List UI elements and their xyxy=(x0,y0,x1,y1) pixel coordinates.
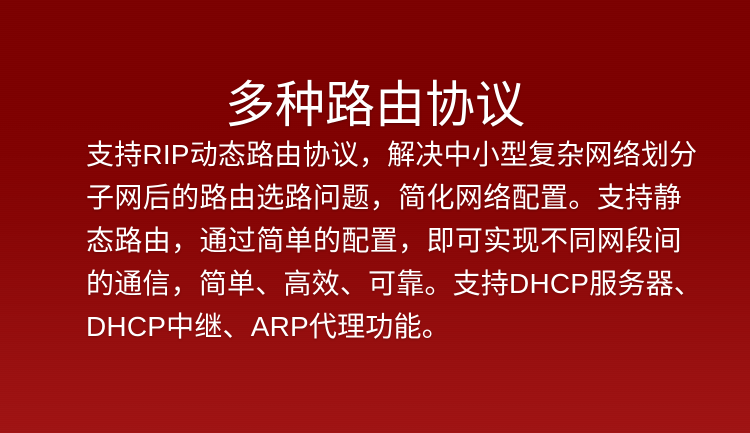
glyph: 单 xyxy=(227,262,255,305)
glyph: 路 xyxy=(114,219,142,262)
glyph: 小 xyxy=(472,133,500,176)
glyph: 分 xyxy=(669,133,697,176)
glyph: 同 xyxy=(568,219,596,262)
glyph: 、 xyxy=(674,262,702,305)
glyph: 配 xyxy=(341,219,369,262)
glyph: 、 xyxy=(340,262,368,305)
glyph: 服 xyxy=(589,262,617,305)
glyph: 。 xyxy=(568,176,596,219)
glyph: 路 xyxy=(200,176,228,219)
glyph: 信 xyxy=(142,262,170,305)
glyph: 网 xyxy=(455,176,483,219)
glyph: 的 xyxy=(313,219,341,262)
page-title: 多种路由协议 xyxy=(0,75,750,135)
glyph: 划 xyxy=(641,133,669,176)
glyph: 支 xyxy=(453,262,481,305)
glyph: 选 xyxy=(256,176,284,219)
glyph: 路 xyxy=(285,176,313,219)
glyph: ， xyxy=(398,219,426,262)
glyph: 过 xyxy=(228,219,256,262)
glyph: 可 xyxy=(455,219,483,262)
glyph: ， xyxy=(370,176,398,219)
glyph: 务 xyxy=(617,262,645,305)
glyph: 高 xyxy=(283,262,311,305)
glyph: 简 xyxy=(398,176,426,219)
glyph: 杂 xyxy=(556,133,584,176)
glyph: 由 xyxy=(274,133,302,176)
glyph: 协 xyxy=(303,133,331,176)
glyph: 络 xyxy=(613,133,641,176)
glyph: 不 xyxy=(540,219,568,262)
glyph: 可 xyxy=(368,262,396,305)
glyph: 持 xyxy=(481,262,509,305)
glyph: 段 xyxy=(625,219,653,262)
glyph: RIP xyxy=(142,133,189,176)
glyph: ， xyxy=(359,133,387,176)
glyph: 态 xyxy=(86,219,114,262)
glyph: 网 xyxy=(585,133,613,176)
glyph: 络 xyxy=(483,176,511,219)
glyph: 间 xyxy=(654,219,682,262)
glyph: 的 xyxy=(86,262,114,305)
glyph: 化 xyxy=(427,176,455,219)
glyph: 效 xyxy=(312,262,340,305)
glyph: 中 xyxy=(444,133,472,176)
glyph: 路 xyxy=(246,133,274,176)
glyph: 题 xyxy=(341,176,369,219)
glyph: ， xyxy=(171,219,199,262)
description-paragraph: 支持RIP动态路由协议，解决中小型复杂网络划分 子网后的路由选路问题，简化网络配… xyxy=(86,133,682,348)
glyph: 解 xyxy=(387,133,415,176)
description-line-5: DHCP中继、ARP代理功能。 xyxy=(86,305,682,348)
glyph: 子 xyxy=(86,176,114,219)
feature-banner: 多种路由协议 支持RIP动态路由协议，解决中小型复杂网络划分 子网后的路由选路问… xyxy=(0,0,750,433)
glyph: 即 xyxy=(427,219,455,262)
glyph: 实 xyxy=(483,219,511,262)
glyph: 由 xyxy=(228,176,256,219)
glyph: 、 xyxy=(255,262,283,305)
glyph: 通 xyxy=(114,262,142,305)
glyph: 置 xyxy=(370,219,398,262)
glyph: DHCP xyxy=(509,262,589,305)
glyph: 的 xyxy=(171,176,199,219)
glyph: 动 xyxy=(190,133,218,176)
glyph: 单 xyxy=(285,219,313,262)
glyph: 靠 xyxy=(396,262,424,305)
glyph: ， xyxy=(171,262,199,305)
glyph: 后 xyxy=(143,176,171,219)
description-line-3: 态路由，通过简单的配置，即可实现不同网段间 xyxy=(86,219,682,262)
glyph: 简 xyxy=(199,262,227,305)
glyph: 支 xyxy=(86,133,114,176)
glyph: 简 xyxy=(256,219,284,262)
glyph: 态 xyxy=(218,133,246,176)
glyph: 持 xyxy=(625,176,653,219)
glyph: 通 xyxy=(200,219,228,262)
glyph: 由 xyxy=(143,219,171,262)
glyph: 持 xyxy=(114,133,142,176)
glyph: 配 xyxy=(512,176,540,219)
glyph: 决 xyxy=(415,133,443,176)
glyph: 现 xyxy=(512,219,540,262)
glyph: 问 xyxy=(313,176,341,219)
glyph: 议 xyxy=(331,133,359,176)
banner-content: 多种路由协议 支持RIP动态路由协议，解决中小型复杂网络划分 子网后的路由选路问… xyxy=(0,0,750,433)
glyph: 网 xyxy=(597,219,625,262)
glyph: 置 xyxy=(540,176,568,219)
glyph: 器 xyxy=(646,262,674,305)
glyph: 。 xyxy=(424,262,452,305)
glyph: 型 xyxy=(500,133,528,176)
description-line-4: 的通信，简单、高效、可靠。支持DHCP服务器、 xyxy=(86,262,682,305)
glyph: 复 xyxy=(528,133,556,176)
glyph: 静 xyxy=(654,176,682,219)
glyph: 网 xyxy=(114,176,142,219)
description-line-2: 子网后的路由选路问题，简化网络配置。支持静 xyxy=(86,176,682,219)
glyph: 支 xyxy=(597,176,625,219)
description-line-1: 支持RIP动态路由协议，解决中小型复杂网络划分 xyxy=(86,133,682,176)
